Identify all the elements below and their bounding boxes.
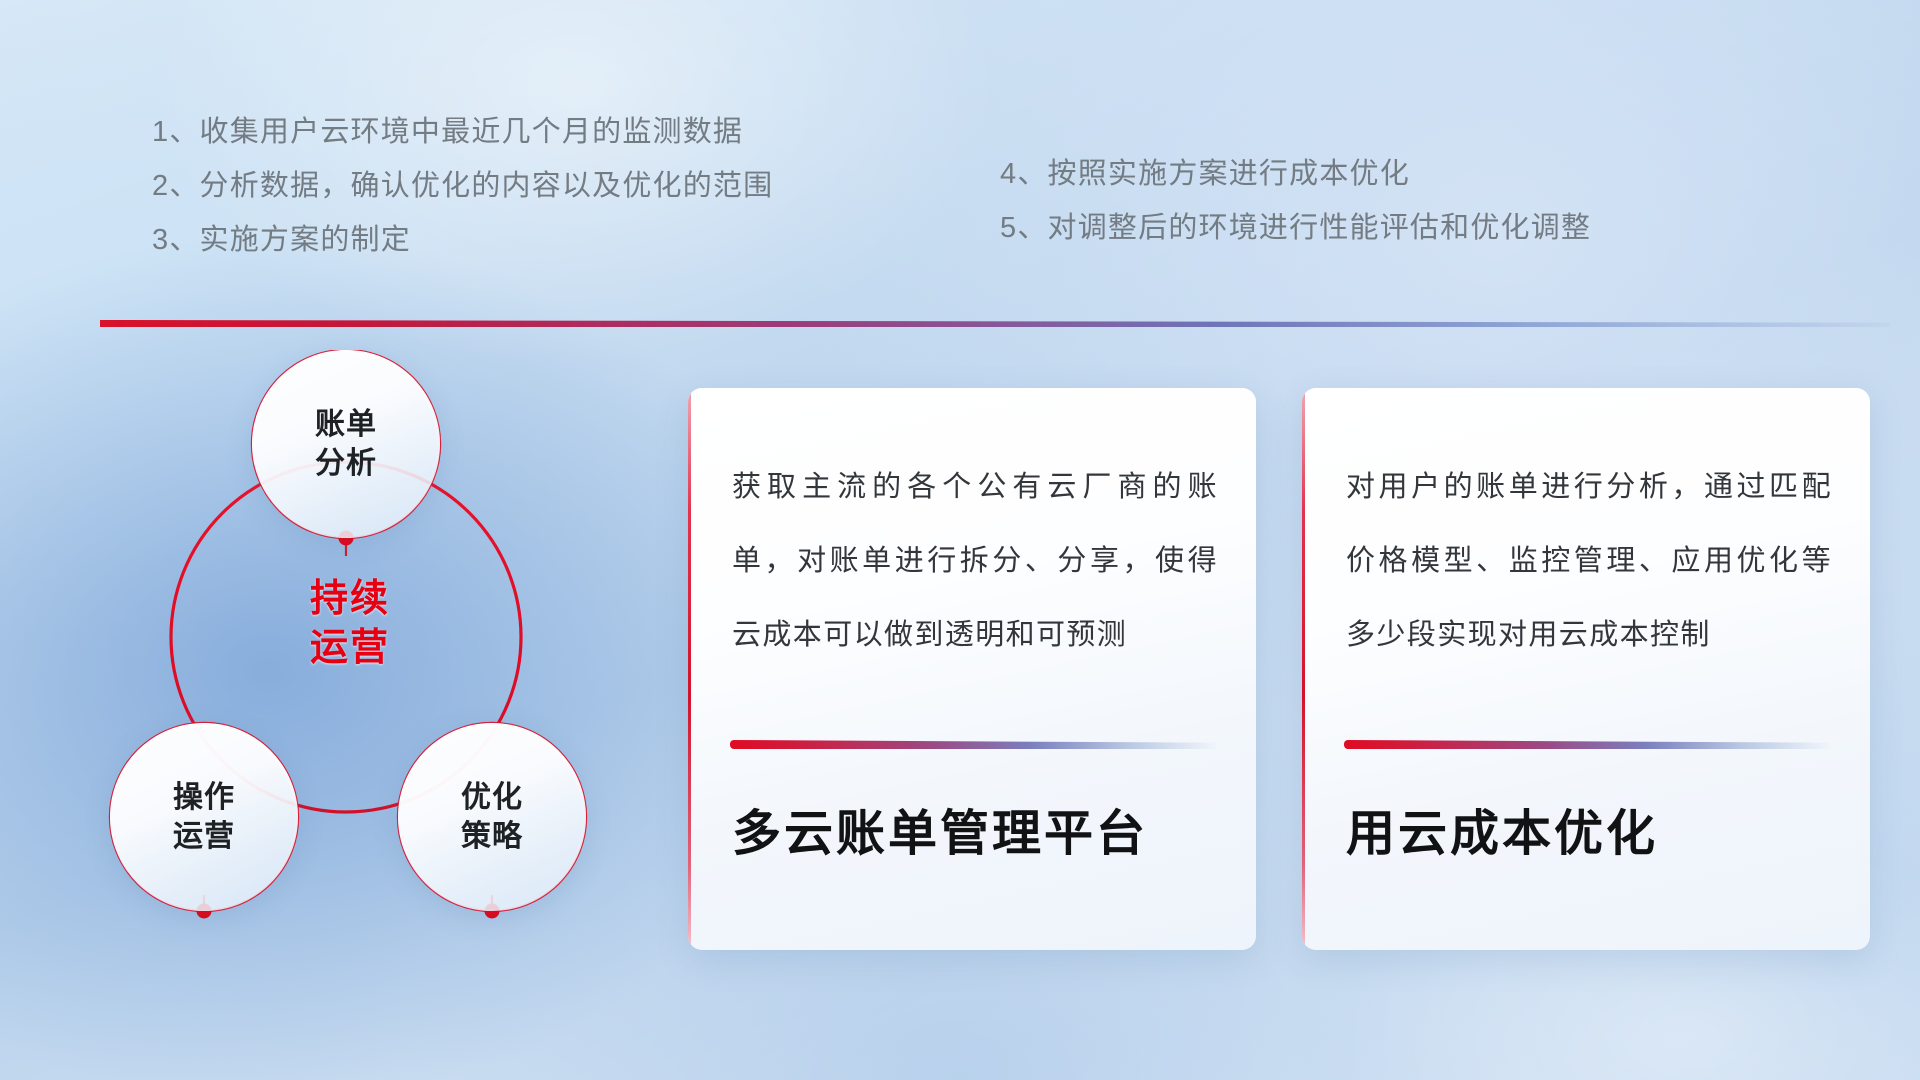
card-description: 获取主流的各个公有云厂商的账单，对账单进行拆分、分享，使得云成本可以做到透明和可… [732, 450, 1218, 672]
diagram-node-billing-analysis[interactable]: 账单 分析 [252, 350, 440, 538]
card-accent-rule [730, 740, 1216, 749]
card-accent-rule [1344, 740, 1830, 749]
card-title: 用云成本优化 [1346, 794, 1840, 865]
continuous-operations-diagram: 账单 分析 操作 运营 优化 策略 持续 运营 [100, 350, 640, 950]
diagram-node-optimization-strategy[interactable]: 优化 策略 [398, 723, 586, 911]
diagram-node-label: 操作 运营 [173, 778, 235, 856]
feature-card-cloud-cost-optimization[interactable]: 对用户的账单进行分析，通过匹配价格模型、监控管理、应用优化等多少段实现对用云成本… [1302, 388, 1870, 950]
step-item: 5、对调整后的环境进行性能评估和优化调整 [1000, 201, 1591, 255]
diagram-node-label: 优化 策略 [461, 778, 523, 856]
feature-card-multi-cloud-billing-platform[interactable]: 获取主流的各个公有云厂商的账单，对账单进行拆分、分享，使得云成本可以做到透明和可… [688, 388, 1256, 950]
step-item: 3、实施方案的制定 [152, 213, 773, 267]
steps-right-column: 4、按照实施方案进行成本优化 5、对调整后的环境进行性能评估和优化调整 [1000, 147, 1591, 255]
card-description: 对用户的账单进行分析，通过匹配价格模型、监控管理、应用优化等多少段实现对用云成本… [1346, 450, 1832, 672]
diagram-node-label: 账单 分析 [315, 405, 377, 483]
slide-stage: 1、收集用户云环境中最近几个月的监测数据 2、分析数据，确认优化的内容以及优化的… [0, 0, 1920, 1080]
step-item: 2、分析数据，确认优化的内容以及优化的范围 [152, 159, 773, 213]
steps-left-column: 1、收集用户云环境中最近几个月的监测数据 2、分析数据，确认优化的内容以及优化的… [152, 105, 773, 267]
step-item: 4、按照实施方案进行成本优化 [1000, 147, 1591, 201]
section-divider [100, 320, 1890, 327]
diagram-node-operations[interactable]: 操作 运营 [110, 723, 298, 911]
card-title: 多云账单管理平台 [732, 794, 1226, 865]
diagram-center-label: 持续 运营 [275, 575, 425, 672]
step-item: 1、收集用户云环境中最近几个月的监测数据 [152, 105, 773, 159]
